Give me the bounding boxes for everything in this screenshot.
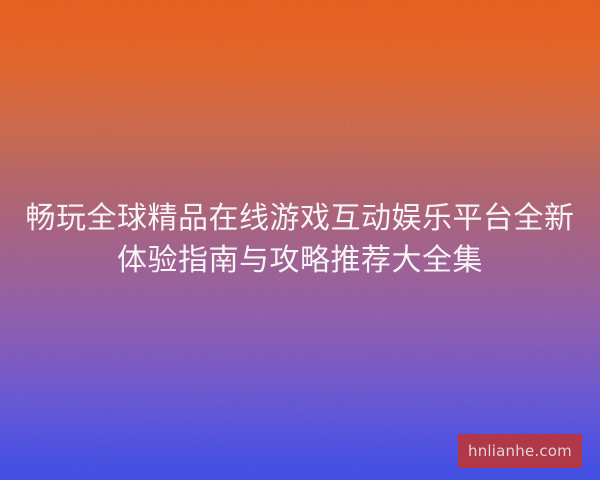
banner-canvas: 畅玩全球精品在线游戏互动娱乐平台全新 体验指南与攻略推荐大全集 hnlianhe… [0,0,600,480]
watermark-label: hnlianhe.com [468,444,572,459]
gradient-background [0,0,600,480]
watermark-badge: hnlianhe.com [458,434,582,468]
